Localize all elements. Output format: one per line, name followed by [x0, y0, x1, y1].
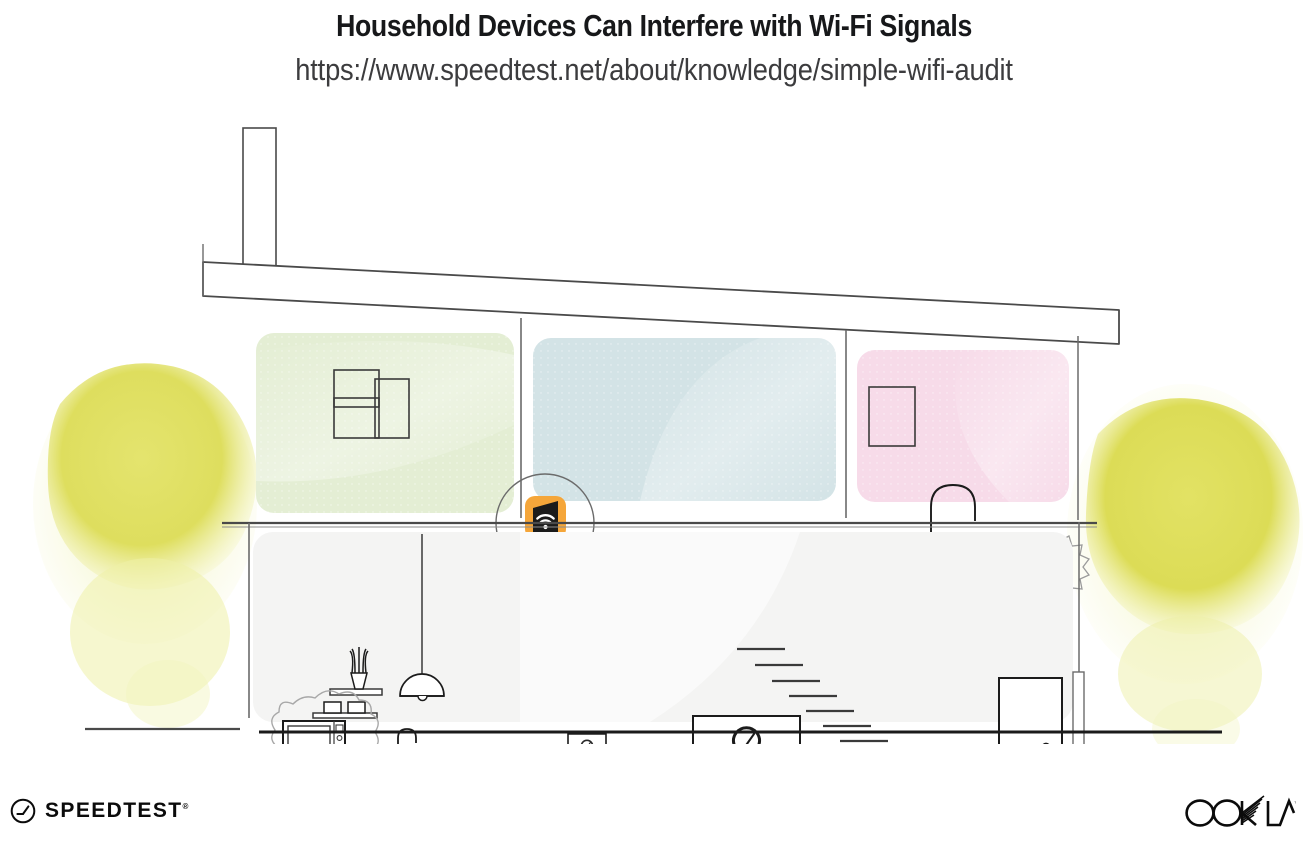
living-room-tv: SPEEDTEST — [693, 716, 800, 744]
roof — [203, 262, 1119, 344]
speedtest-wordmark-text: SPEEDTEST — [45, 799, 182, 822]
chimney — [243, 128, 276, 278]
floor-slab-upper — [222, 523, 1097, 527]
page-title: Household Devices Can Interfere with Wi-… — [92, 0, 1217, 44]
source-url: https://www.speedtest.net/about/knowledg… — [78, 44, 1229, 88]
infographic-canvas: Household Devices Can Interfere with Wi-… — [0, 0, 1308, 861]
utensil-holder — [350, 647, 368, 689]
room-lower-floor: SPEEDTEST — [249, 522, 1084, 744]
header: Household Devices Can Interfere with Wi-… — [0, 0, 1308, 88]
ookla-trademark: ™ — [1294, 801, 1296, 807]
speedtest-trademark: ® — [182, 802, 188, 811]
ookla-logo: ™ — [1184, 795, 1296, 829]
speedtest-logo: SPEEDTEST® — [10, 798, 188, 824]
dining-laptop: SPEEDTEST — [559, 734, 615, 744]
house-illustration: SPEEDTEST — [0, 104, 1308, 744]
foliage-left — [33, 363, 257, 728]
front-door[interactable] — [999, 678, 1062, 744]
speedtest-wordmark: SPEEDTEST® — [45, 799, 188, 823]
ookla-wordmark-icon: ™ — [1184, 795, 1296, 829]
speedtest-gauge-icon — [10, 798, 36, 824]
foliage-right — [1067, 384, 1303, 744]
